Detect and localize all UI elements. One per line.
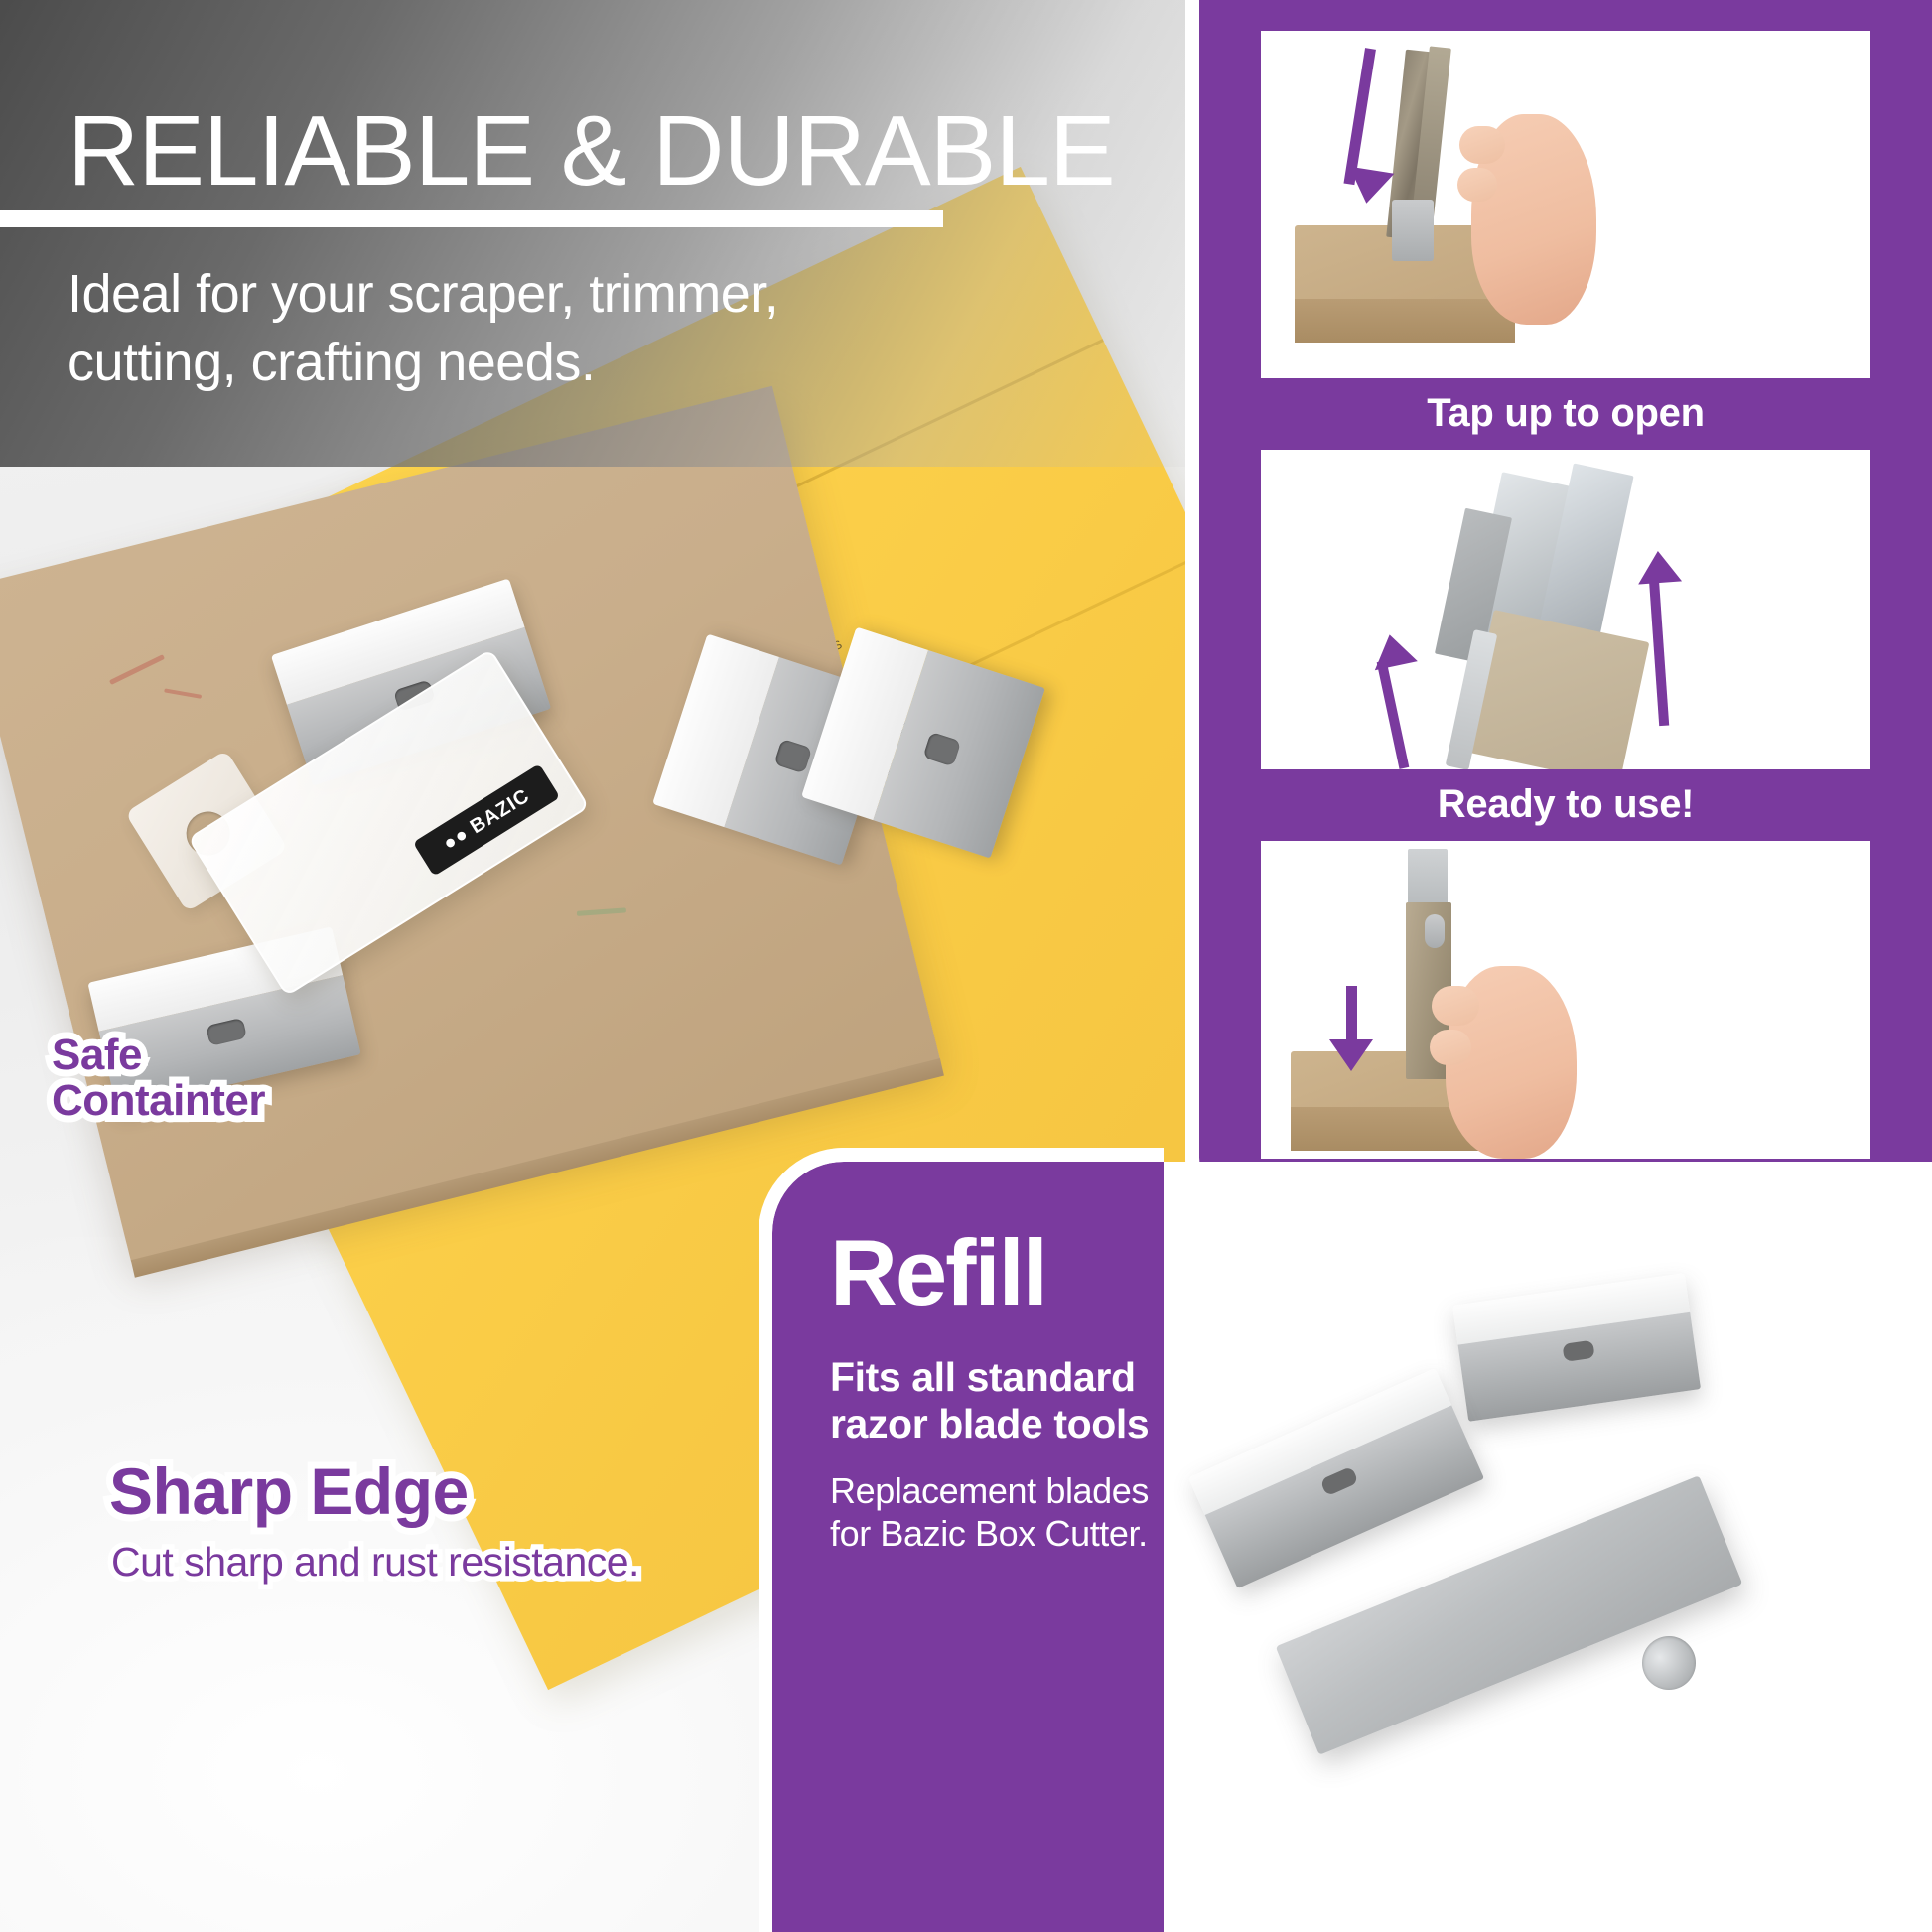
refill-title: Refill	[830, 1227, 1164, 1318]
refill-blade-upper	[1452, 1273, 1701, 1422]
callout-sharp-edge-subtext: Cut sharp and rust resistance.	[111, 1541, 639, 1584]
header-subtitle: Ideal for your scraper, trimmer, cutting…	[68, 260, 778, 397]
arrow-down-icon	[1343, 48, 1375, 185]
step-item-1: Tap up to open	[1225, 31, 1906, 450]
arrow-down-head-icon	[1344, 167, 1395, 207]
instruction-steps-panel: Tap up to open Ready to use!	[1199, 0, 1932, 1229]
refill-section: Refill Fits all standard razor blade too…	[772, 1126, 1932, 1932]
step-2-caption: Ready to use!	[1225, 769, 1906, 841]
arrow-up-right-head-icon	[1636, 550, 1682, 585]
arrow-up-left-icon	[1377, 660, 1410, 769]
refill-blade-lower	[1188, 1368, 1484, 1588]
refill-text-panel: Refill Fits all standard razor blade too…	[772, 1162, 1164, 1932]
arrow-up-right-icon	[1649, 577, 1669, 726]
callout-sharp-edge: Sharp Edge	[109, 1457, 469, 1526]
refill-body-text: Replacement blades for Bazic Box Cutter.	[830, 1469, 1164, 1555]
arrow-down-head-icon	[1329, 1039, 1373, 1071]
page-title: RELIABLE & DURABLE	[68, 101, 1115, 201]
callout-safe-container: Safe Containter	[52, 1033, 265, 1124]
title-underline-rule	[0, 210, 943, 227]
arrow-down-icon	[1346, 986, 1357, 1047]
refill-product-photo	[1164, 1162, 1932, 1932]
step-2-photo	[1261, 450, 1870, 769]
container-brand-text: BAZIC	[467, 784, 534, 839]
arrow-up-left-head-icon	[1368, 630, 1418, 670]
step-1-caption: Tap up to open	[1225, 378, 1906, 450]
step-1-photo	[1261, 31, 1870, 378]
container-brand-label: ●● BAZIC	[413, 763, 560, 876]
refill-headline: Fits all standard razor blade tools	[830, 1354, 1164, 1447]
product-infographic: ●● BAZIC P R O D U C T S WWW.BAZICPRODUC…	[0, 0, 1932, 1932]
step-item-2: Ready to use!	[1225, 450, 1906, 841]
step-3-photo	[1261, 841, 1870, 1159]
scraper-tool-rivet	[1634, 1628, 1704, 1698]
container-logomark: ●●	[439, 822, 473, 855]
header-banner: RELIABLE & DURABLE Ideal for your scrape…	[0, 0, 1219, 467]
